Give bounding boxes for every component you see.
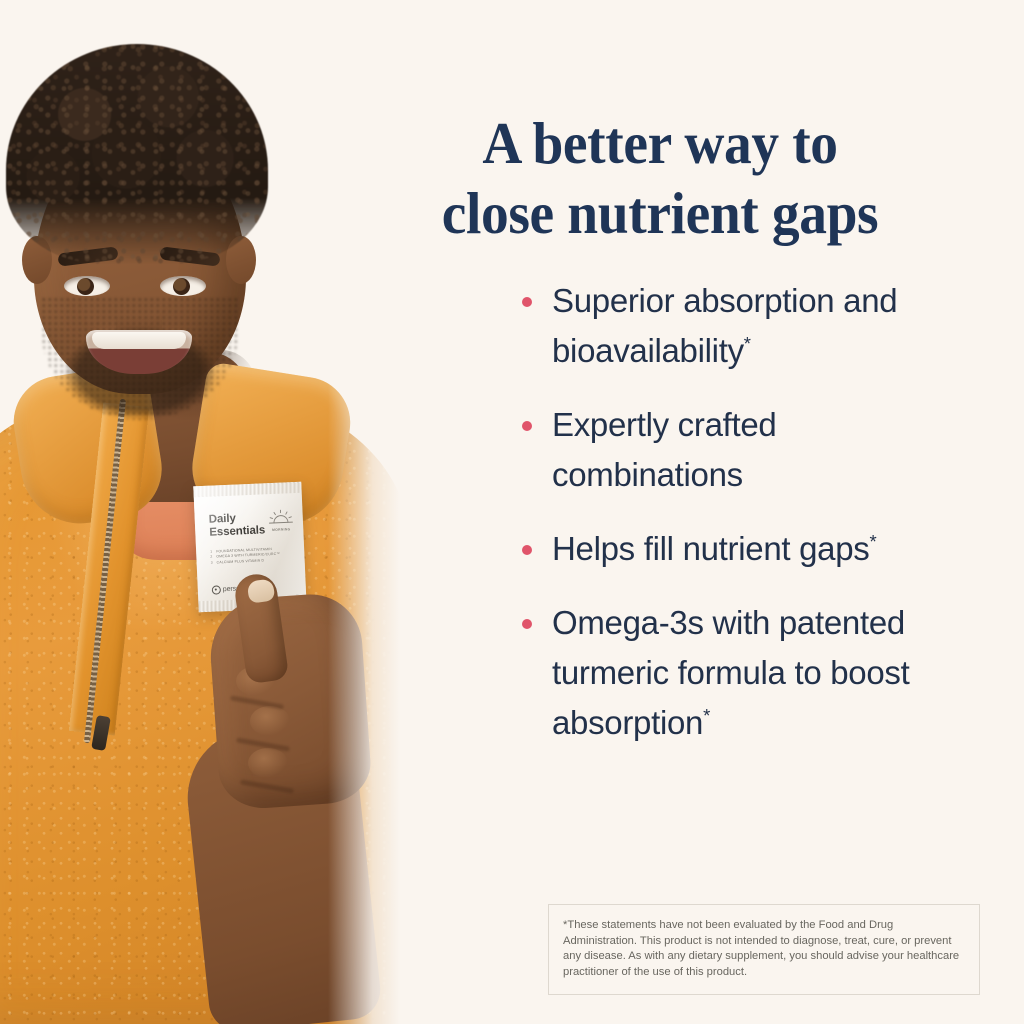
eye-left xyxy=(64,276,110,296)
benefit-text: Helps fill nutrient gaps xyxy=(552,530,869,567)
teeth xyxy=(92,332,186,349)
footnote-marker: * xyxy=(869,531,876,552)
copy-column: A better way to close nutrient gaps Supe… xyxy=(400,0,1024,1024)
benefit-item-combinations: Expertly crafted combinations xyxy=(516,400,946,500)
footnote-marker: * xyxy=(703,705,710,726)
hand xyxy=(207,591,373,811)
footnote-marker: * xyxy=(744,333,751,354)
knuckle-highlight xyxy=(250,706,290,736)
headline-line-1: A better way to xyxy=(482,110,837,176)
benefit-list: Superior absorption and bioavailability*… xyxy=(516,276,946,772)
eye-right xyxy=(160,276,206,296)
fda-disclaimer: *These statements have not been evaluate… xyxy=(548,904,980,995)
benefit-text: Superior absorption and bioavailability xyxy=(552,282,897,369)
iris-right xyxy=(173,278,190,295)
benefit-text: Expertly crafted combinations xyxy=(552,406,776,493)
headline-line-2: close nutrient gaps xyxy=(331,178,989,248)
benefit-text: Omega-3s with patented turmeric formula … xyxy=(552,604,909,741)
ad-creative: Daily Essentials MORNING xyxy=(0,0,1024,1024)
benefit-item-absorption: Superior absorption and bioavailability* xyxy=(516,276,946,376)
page-title: A better way to close nutrient gaps xyxy=(331,108,989,248)
iris-left xyxy=(77,278,94,295)
benefit-item-omega3: Omega-3s with patented turmeric formula … xyxy=(516,598,946,748)
benefit-item-nutrient-gaps: Helps fill nutrient gaps* xyxy=(516,524,946,574)
knuckle-highlight xyxy=(248,748,288,778)
